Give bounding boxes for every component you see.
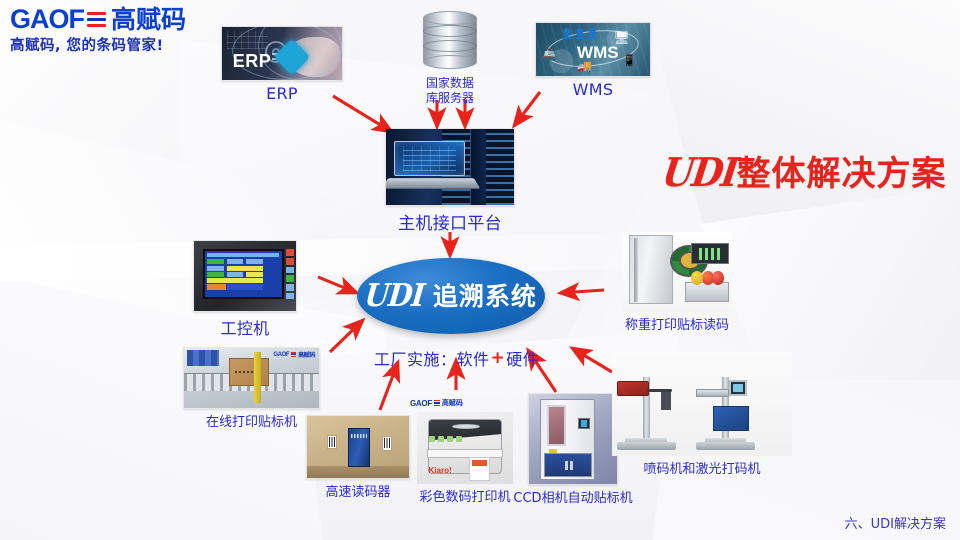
headline-text: 整体解决方案 bbox=[736, 146, 946, 195]
page-title: UDI 整体解决方案 bbox=[663, 146, 946, 195]
node-database-label: 国家数据 库服务器 bbox=[410, 76, 490, 106]
implementation-prefix: 工厂实施：软件 bbox=[374, 346, 490, 370]
watermark-latin: GAOF bbox=[410, 399, 432, 408]
node-weighing-station-label: 称重打印贴标读码 bbox=[607, 314, 747, 333]
node-database[interactable]: 国家数据 库服务器 bbox=[410, 6, 490, 106]
highspeed-reader-image bbox=[306, 415, 410, 479]
node-online-labeler[interactable]: GAOF 高赋码 在线打印贴标机 bbox=[183, 347, 320, 430]
database-cylinder-icon bbox=[410, 6, 490, 74]
node-database-label-line2: 库服务器 bbox=[410, 91, 490, 106]
node-host-platform-label: 主机接口平台 bbox=[385, 209, 515, 234]
node-inkjet-laser-label: 喷码机和激光打码机 bbox=[607, 458, 797, 477]
node-weighing-station[interactable]: 称重打印贴标读码 bbox=[607, 232, 747, 333]
node-wms[interactable]: 👤👤👤 🖥 🚚 📱 🚢 WMS WMS bbox=[535, 22, 651, 99]
wms-image: 👤👤👤 🖥 🚚 📱 🚢 WMS bbox=[535, 22, 651, 77]
brand-logo: GAOF 高赋码 高赋码, 您的条码管家! bbox=[10, 6, 196, 55]
erp-image: ERP bbox=[221, 26, 343, 81]
slide-canvas: GAOF 高赋码 高赋码, 您的条码管家! UDI 整体解决方案 bbox=[0, 0, 960, 540]
node-online-labeler-label: 在线打印贴标机 bbox=[183, 411, 320, 430]
node-industrial-computer-label: 工控机 bbox=[193, 315, 297, 339]
node-inkjet-laser[interactable]: 喷码机和激光打码机 bbox=[607, 352, 797, 477]
color-printer-image: Kiaro! bbox=[417, 412, 513, 484]
watermark-chinese: 高赋码 bbox=[442, 398, 463, 408]
node-industrial-computer[interactable]: 工控机 bbox=[193, 240, 297, 339]
printer-brand-text: Kiaro! bbox=[429, 466, 452, 475]
image-watermark-logo: GAOF 高赋码 bbox=[273, 350, 315, 359]
logo-chinese-text: 高赋码 bbox=[111, 7, 186, 32]
node-color-printer[interactable]: Kiaro! 彩色数码打印机 bbox=[413, 412, 517, 505]
erp-image-label: ERP bbox=[233, 51, 272, 72]
node-highspeed-reader-label: 高速读码器 bbox=[306, 481, 410, 500]
weighing-station-image bbox=[622, 232, 732, 312]
slide-footer: 六、UDI解决方案 bbox=[845, 513, 946, 532]
node-color-printer-label: 彩色数码打印机 bbox=[413, 486, 517, 505]
node-host-platform[interactable]: 主机接口平台 bbox=[385, 128, 515, 234]
node-wms-label: WMS bbox=[535, 80, 651, 99]
logo-latin-text: GAOF bbox=[10, 6, 84, 33]
node-database-label-line1: 国家数据 bbox=[410, 76, 490, 91]
slide-watermark-logo: GAOF 高赋码 bbox=[410, 398, 463, 408]
core-label: 追溯系统 bbox=[433, 284, 537, 309]
barcode-bars-icon bbox=[87, 12, 106, 28]
implementation-plus: + bbox=[490, 348, 507, 368]
industrial-computer-image bbox=[193, 240, 297, 312]
node-highspeed-reader[interactable]: 高速读码器 bbox=[306, 415, 410, 500]
online-labeler-image: GAOF 高赋码 bbox=[183, 347, 320, 409]
node-ccd-labeler-label: CCD相机自动贴标机 bbox=[508, 487, 638, 506]
node-erp-label: ERP bbox=[221, 84, 343, 103]
core-udi-mark: UDI bbox=[363, 280, 425, 311]
wms-image-label: WMS bbox=[577, 43, 619, 63]
inkjet-laser-image bbox=[612, 352, 792, 456]
implementation-suffix: 硬件 bbox=[506, 346, 539, 370]
node-erp[interactable]: ERP ERP bbox=[221, 26, 343, 103]
implementation-note: 工厂实施：软件 + 硬件 bbox=[374, 346, 539, 370]
ccd-labeler-image bbox=[528, 393, 618, 485]
host-platform-image bbox=[385, 128, 515, 206]
headline-udi-mark: UDI bbox=[660, 150, 740, 196]
watermark-barcode-icon bbox=[434, 400, 440, 407]
brand-tagline: 高赋码, 您的条码管家! bbox=[10, 34, 196, 55]
core-system-node[interactable]: UDI 追溯系统 bbox=[357, 258, 545, 334]
